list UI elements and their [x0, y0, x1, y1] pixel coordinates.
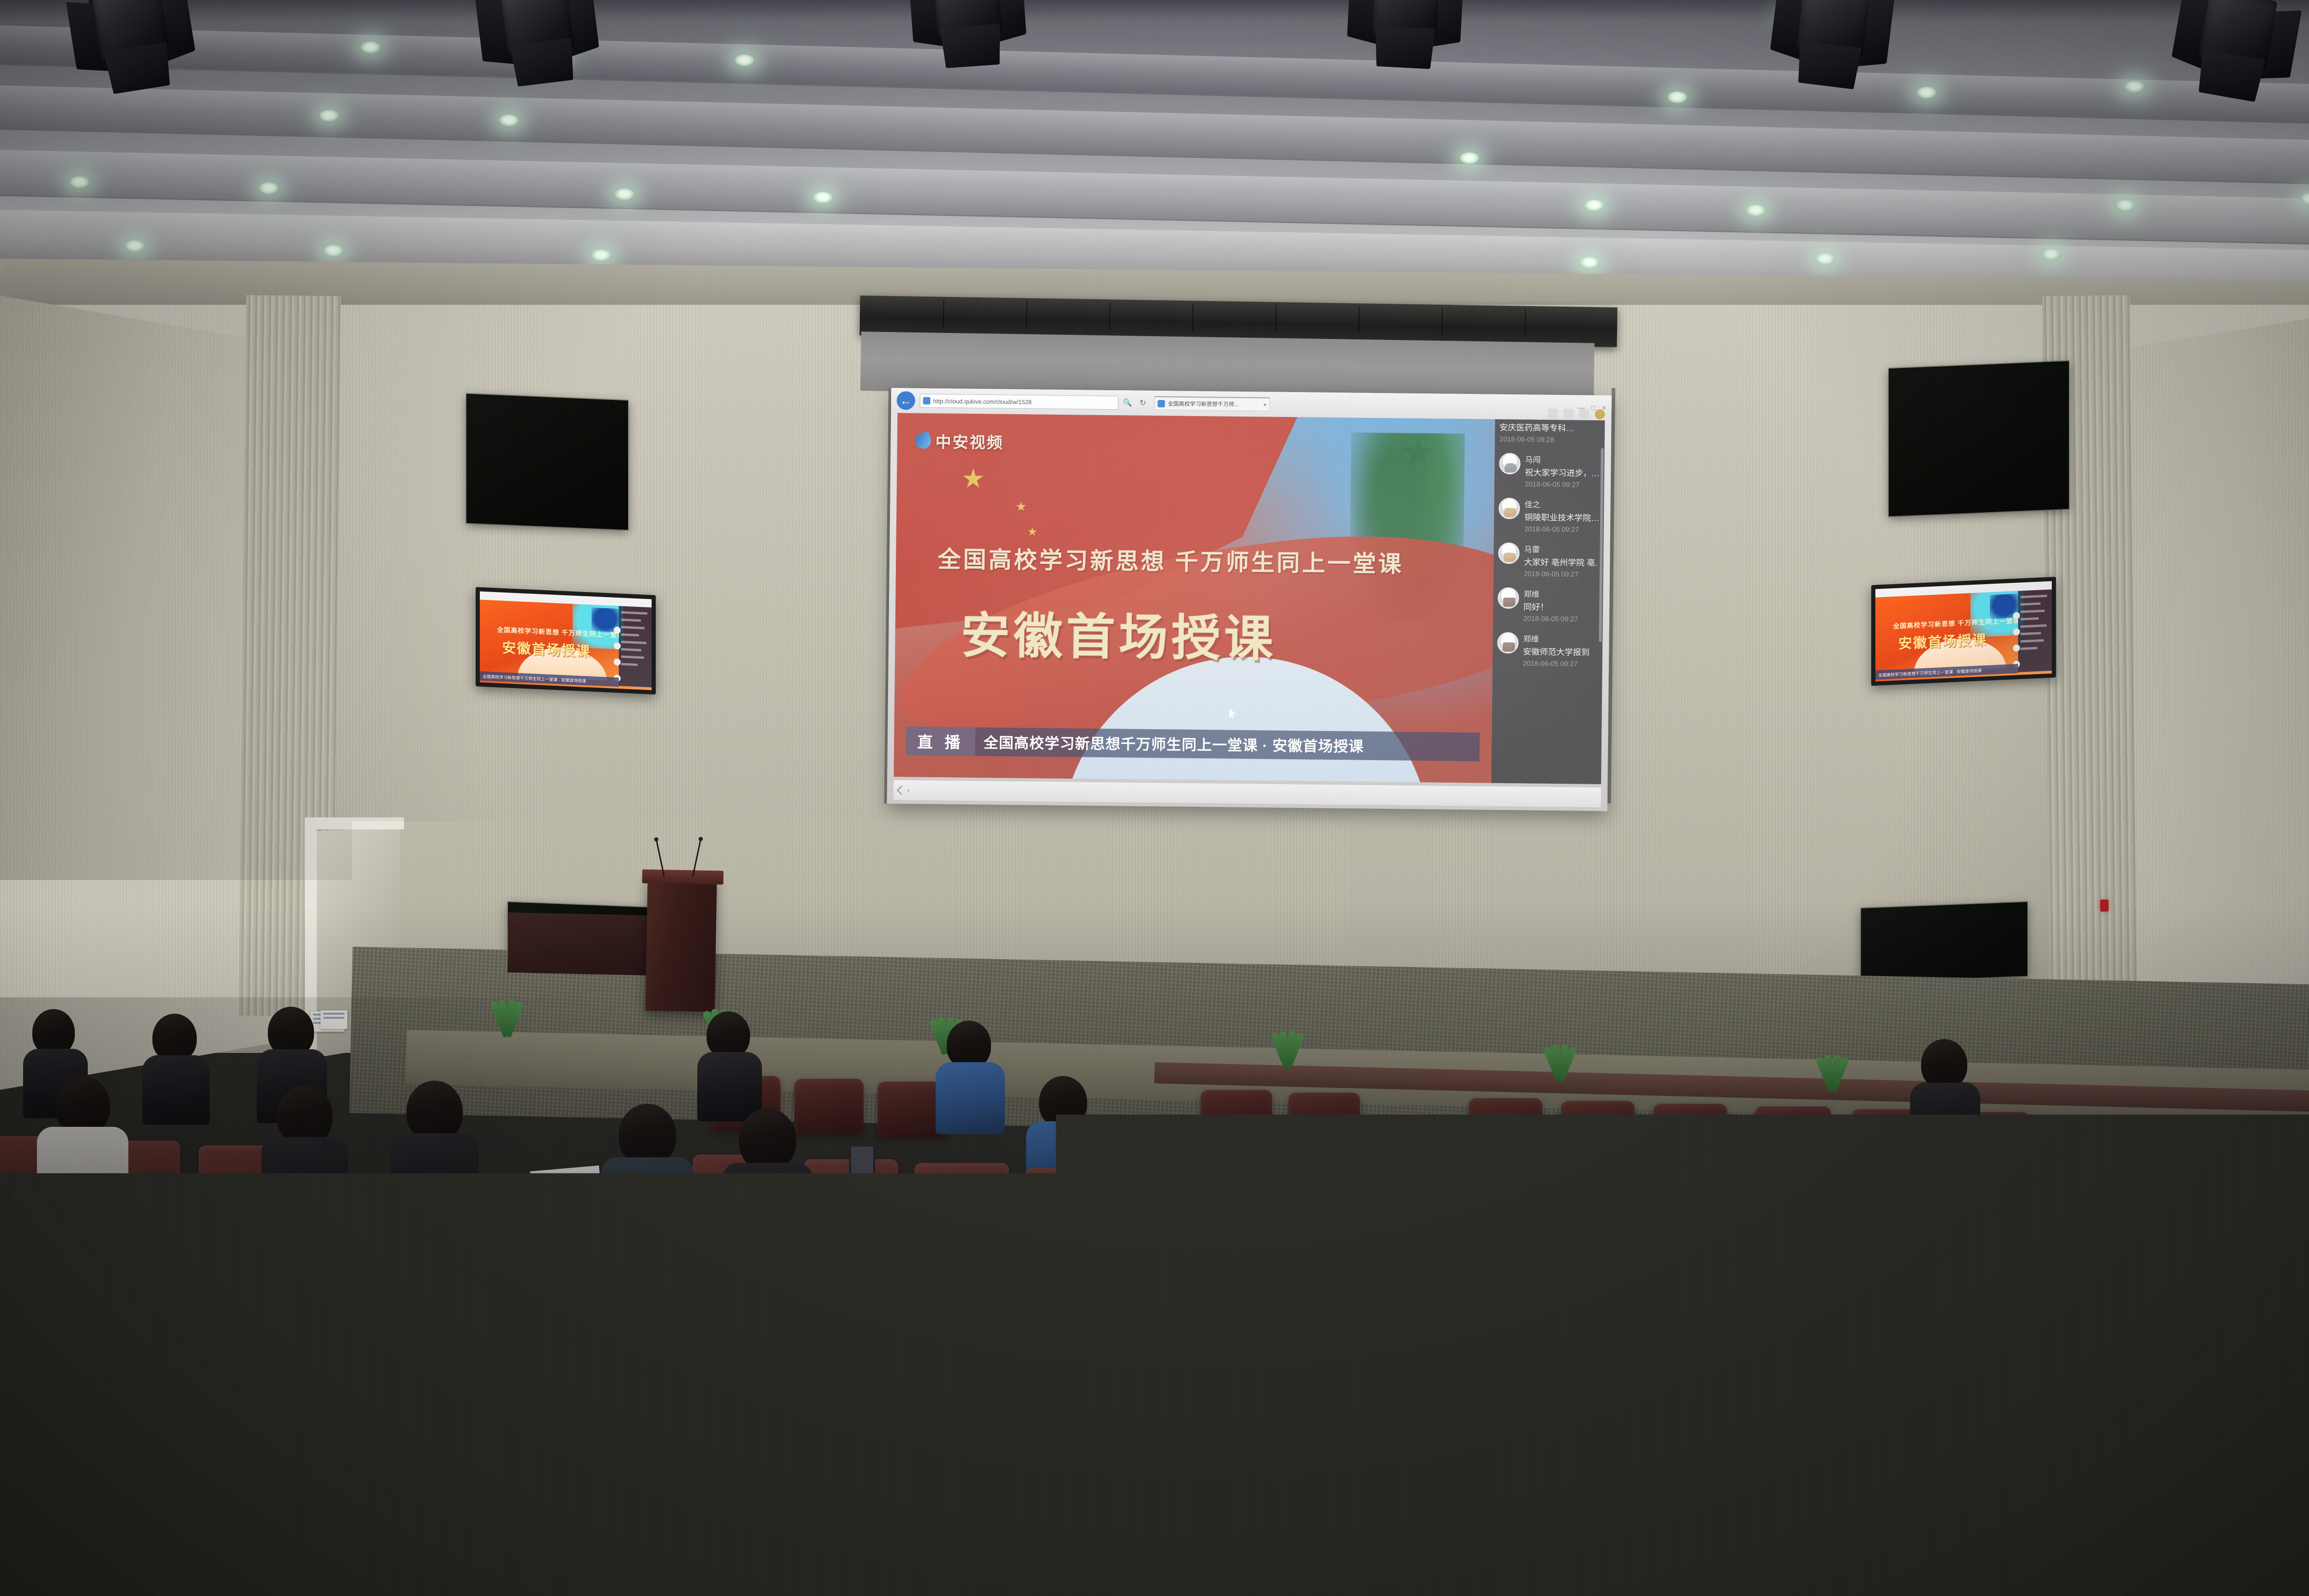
channel-logo: 中安视频: [915, 429, 1004, 453]
chat-message: 马雷 大家好 亳州学院 亳… 2018-06-05 09:27: [1493, 538, 1604, 584]
search-icon[interactable]: 🔍: [1123, 398, 1132, 407]
ceiling-downlight: [259, 182, 279, 194]
ceiling-downlight: [499, 115, 519, 127]
ceiling-downlight: [1579, 257, 1600, 269]
chat-message: 马闯 祝大家学习进步，… 2018-06-05 09:27: [1494, 449, 1605, 495]
channel-logo-text: 中安视频: [935, 429, 1004, 453]
chat-message-time: 2018-06-05 09:28: [1499, 435, 1600, 444]
status-text: ‹: [907, 786, 910, 793]
live-stream-page: 中安视频 全国高校学习新思想 千万师生同上一堂课 安徽首场授课 直 播 全国高校…: [894, 413, 1605, 784]
door-header: [305, 817, 404, 829]
chat-message: 佳之 铜陵职业技术学院… 2018-06-05 09:27: [1494, 494, 1604, 539]
ceiling-downlight: [360, 42, 381, 54]
avatar: [1498, 587, 1519, 609]
chat-message-time: 2018-06-05 09:27: [1523, 615, 1598, 623]
smartphone[interactable]: [1838, 1279, 1860, 1319]
monitor-ticker-text: 全国高校学习新思想千万师生同上一堂课 · 安徽首场授课: [1878, 666, 2018, 678]
account-icon[interactable]: [1595, 409, 1605, 419]
smartphone[interactable]: [850, 1145, 875, 1189]
wall-notice-sign: [320, 1010, 347, 1029]
notebook: [530, 1166, 602, 1200]
chat-message-text: 大家好 亳州学院 亳…: [1524, 556, 1599, 568]
chevron-left-icon[interactable]: [897, 786, 906, 795]
live-video-poster[interactable]: 中安视频 全国高校学习新思想 千万师生同上一堂课 安徽首场授课 直 播 全国高校…: [894, 413, 1495, 783]
live-badge: 直 播: [906, 726, 976, 756]
smartphone[interactable]: [1335, 1210, 1356, 1248]
ceiling-downlight: [1459, 152, 1480, 164]
ceiling-downlight: [319, 110, 339, 122]
avatar: [1499, 453, 1520, 474]
chat-message-text: 铜陵职业技术学院…: [1524, 511, 1599, 524]
avatar: [1499, 498, 1520, 519]
live-ticker: 直 播 全国高校学习新思想千万师生同上一堂课 · 安徽首场授课: [906, 726, 1480, 761]
avatar: [1497, 632, 1518, 653]
ceiling-downlight: [2124, 81, 2145, 93]
chat-message-time: 2018-06-05 09:27: [1524, 570, 1599, 579]
potted-plant: [476, 994, 531, 1036]
podium-top: [642, 870, 723, 885]
site-favicon-icon: [923, 397, 931, 405]
potted-plant: [1256, 1025, 1312, 1068]
browser-tool-icons: [1547, 409, 1605, 419]
projection-screen: ← http://cloud.qukive.com/cloud/w/1528 🔍…: [887, 388, 1612, 811]
ceiling-downlight: [1584, 199, 1604, 212]
wall-acoustic-panel: [1861, 902, 2027, 982]
left-wall-monitor: 全国高校学习新思想 千万师生同上一堂课 安徽首场授课 全国高校学习新思想千万师生…: [476, 587, 656, 695]
live-chat-panel[interactable]: 安庆医药高等专科… 2018-06-05 09:28 马闯 祝大家学习进步，… …: [1491, 419, 1605, 784]
chat-user-name: 马闯: [1525, 453, 1600, 465]
chat-message: 郑维 同好！ 2018-06-05 09:27: [1493, 583, 1603, 629]
broadcast-headline: 全国高校学习新思想 千万师生同上一堂课: [937, 541, 1452, 580]
chat-message: 安庆医药高等专科… 2018-06-05 09:28: [1495, 421, 1605, 450]
broadcast-title: 安徽首场授课: [961, 596, 1439, 672]
ticker-text: 全国高校学习新思想千万师生同上一堂课 · 安徽首场授课: [975, 727, 1480, 761]
browser-tab[interactable]: 全国高校学习新思想千万师... ×: [1154, 396, 1270, 411]
ceiling-downlight: [614, 188, 635, 200]
notebook: [1874, 1179, 1954, 1218]
podium: [645, 877, 717, 1012]
ceiling-downlight: [125, 240, 145, 252]
home-icon[interactable]: [1547, 409, 1558, 419]
browser-tab-title: 全国高校学习新思想千万师...: [1168, 399, 1239, 408]
monitor-chat-panel: [2018, 589, 2052, 672]
monitor-title: 安徽首场授课: [1898, 627, 2022, 653]
ceiling-downlight: [734, 54, 755, 66]
ceiling-downlight: [1815, 253, 1835, 265]
ceiling-downlight: [591, 249, 611, 261]
right-wall-monitor: 全国高校学习新思想 千万师生同上一堂课 安徽首场授课 全国高校学习新思想千万师生…: [1871, 577, 2056, 686]
ceiling-downlight: [2115, 199, 2135, 212]
chat-message-text: 安徽师范大学报到: [1523, 645, 1598, 658]
auditorium-photo: ← http://cloud.qukive.com/cloud/w/1528 🔍…: [0, 0, 2309, 1596]
ceiling-downlight: [1746, 205, 1766, 217]
monitor-chat-panel: [619, 606, 652, 688]
tab-favicon-icon: [1158, 400, 1165, 407]
ceiling-downlight: [323, 245, 344, 257]
ceiling-downlight: [69, 176, 90, 188]
chat-message-text: 同好！: [1523, 600, 1598, 613]
gear-icon[interactable]: [1579, 409, 1589, 419]
wall-acoustic-panel: [1889, 361, 2069, 516]
smartphone[interactable]: [475, 1217, 537, 1256]
chat-message: 郑维 安徽师范大学报到 2018-06-05 09:27: [1493, 628, 1603, 674]
tab-close-icon[interactable]: ×: [1263, 401, 1267, 408]
address-bar-text: http://cloud.qukive.com/cloud/w/1528: [933, 397, 1032, 405]
ceiling-downlight: [813, 192, 833, 204]
ceiling-downlight: [2041, 248, 2061, 260]
chat-user-name: 马雷: [1524, 543, 1599, 555]
ceiling-downlight: [1667, 91, 1687, 103]
ceiling-downlight: [1916, 87, 1937, 99]
chat-user-name: 佳之: [1524, 498, 1599, 510]
potted-plant: [1801, 1049, 1856, 1092]
wall-acoustic-panel: [466, 394, 628, 530]
favorites-icon[interactable]: [1563, 409, 1573, 419]
refresh-icon[interactable]: ↻: [1140, 399, 1146, 407]
chat-message-text: 祝大家学习进步，…: [1525, 466, 1600, 479]
back-arrow-icon[interactable]: ←: [897, 391, 915, 410]
swoosh-logo-icon: [913, 431, 933, 451]
chat-message-time: 2018-06-05 09:27: [1524, 525, 1599, 534]
chat-user-name: 郑维: [1523, 587, 1598, 600]
address-bar[interactable]: http://cloud.qukive.com/cloud/w/1528: [920, 394, 1118, 410]
chat-message-time: 2018-06-05 09:27: [1525, 480, 1600, 489]
chat-message-text: 安庆医药高等专科…: [1499, 421, 1600, 434]
notebook: [1606, 1216, 1678, 1251]
fire-alarm: [2100, 900, 2109, 912]
potted-plant: [1529, 1039, 1584, 1082]
avatar: [1498, 543, 1519, 564]
chat-message-time: 2018-06-05 09:27: [1523, 659, 1598, 668]
chat-user-name: 郑维: [1523, 632, 1598, 645]
